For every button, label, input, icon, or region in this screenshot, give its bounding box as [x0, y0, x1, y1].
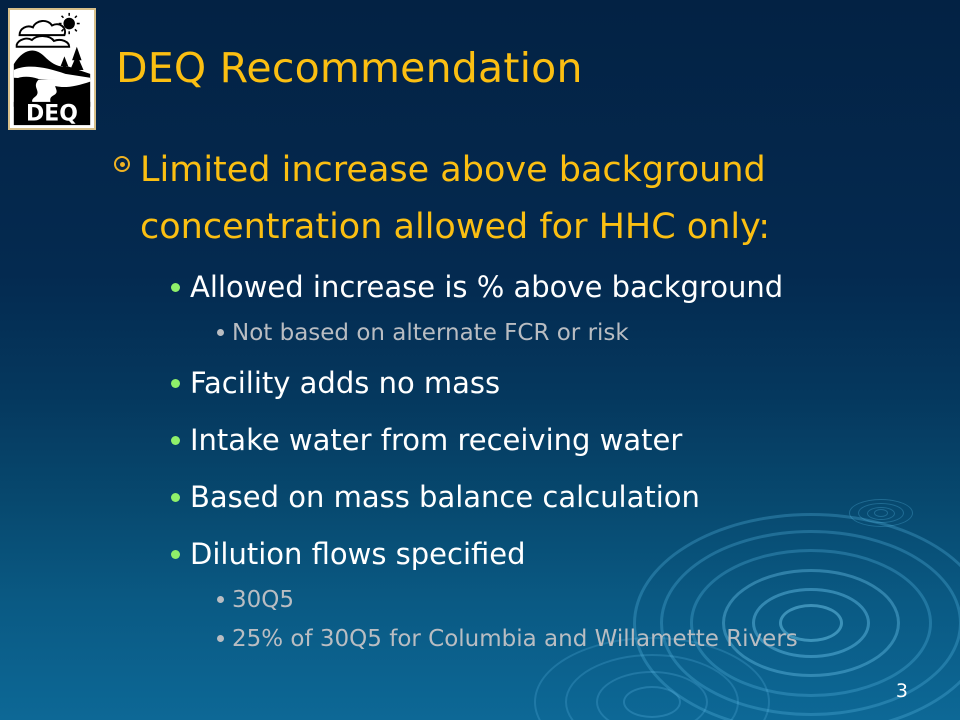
- bullet-text: Intake water from receiving water: [190, 415, 934, 466]
- bullet-level2: Facility adds no mass: [160, 358, 934, 409]
- ripple-medium: [565, 654, 739, 720]
- green-dot-bullet-icon: [160, 415, 190, 445]
- green-dot-bullet-icon: [160, 358, 190, 388]
- bullet-text: 25% of 30Q5 for Columbia and Willamette …: [232, 620, 934, 658]
- deq-logo: DEQ: [8, 8, 96, 130]
- slide-number: 3: [896, 680, 908, 702]
- bullet-level3: 25% of 30Q5 for Columbia and Willamette …: [208, 620, 934, 658]
- bullet-level3: 30Q5: [208, 581, 934, 619]
- gray-dot-bullet-icon: [208, 581, 232, 603]
- bullet-level2: Dilution flows specified: [160, 529, 934, 580]
- bullet-level1: Limited increase above background concen…: [104, 142, 934, 256]
- bullet-list: Limited increase above background concen…: [104, 142, 934, 658]
- gray-dot-bullet-icon: [208, 620, 232, 642]
- bullet-text: 30Q5: [232, 581, 934, 619]
- deq-logo-artwork: DEQ: [10, 10, 94, 128]
- green-dot-bullet-icon: [160, 472, 190, 502]
- bullet-text: Based on mass balance calculation: [190, 472, 934, 523]
- gray-dot-bullet-icon: [208, 314, 232, 336]
- bullet-text: Dilution flows specified: [190, 529, 934, 580]
- bullet-level2: Intake water from receiving water: [160, 415, 934, 466]
- ripple-medium: [596, 671, 708, 720]
- bullet-text: Not based on alternate FCR or risk: [232, 314, 934, 352]
- ripple-medium: [623, 686, 681, 718]
- green-dot-bullet-icon: [160, 529, 190, 559]
- bullet-text: Limited increase above background concen…: [140, 142, 934, 256]
- bullet-text: Allowed increase is % above background: [190, 262, 934, 313]
- presentation-slide: DEQ DEQ Recommendation Limited increase …: [0, 0, 960, 720]
- page-title: DEQ Recommendation: [116, 44, 583, 92]
- green-dot-bullet-icon: [160, 262, 190, 292]
- circled-dot-bullet-icon: [104, 142, 140, 172]
- bullet-text: Facility adds no mass: [190, 358, 934, 409]
- bullet-level3: Not based on alternate FCR or risk: [208, 314, 934, 352]
- bullet-level2: Allowed increase is % above background: [160, 262, 934, 313]
- deq-logo-wordmark: DEQ: [26, 100, 78, 126]
- bullet-level2: Based on mass balance calculation: [160, 472, 934, 523]
